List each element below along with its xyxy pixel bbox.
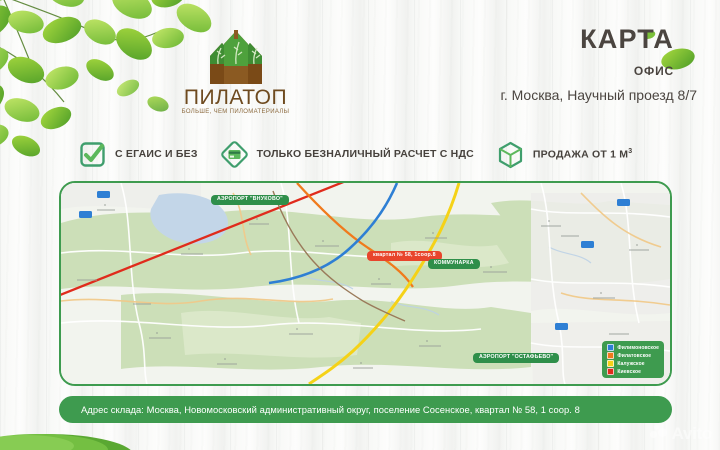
map-canvas[interactable] bbox=[61, 183, 670, 384]
office-address: г. Москва, Научный проезд 8/7 bbox=[500, 87, 697, 103]
legend-swatch bbox=[607, 352, 614, 359]
warehouse-address-bar: Адрес склада: Москва, Новомосковский адм… bbox=[59, 396, 672, 423]
legend-label: Филатовское bbox=[617, 353, 651, 359]
brand-name: ПИЛАТОП bbox=[168, 86, 303, 110]
promo-banner: ПИЛАТОП БОЛЬШЕ, ЧЕМ ПИЛОМАТЕРИАЛЫ КАРТА … bbox=[0, 0, 720, 450]
feature-label: ПРОДАЖА ОТ 1 М3 bbox=[533, 148, 632, 161]
warehouse-address: Адрес склада: Москва, Новомосковский адм… bbox=[81, 404, 580, 415]
legend-label: Киевское bbox=[617, 369, 641, 375]
legend-swatch bbox=[607, 360, 614, 367]
feature-list: С ЕГАИС И БЕЗ ТОЛЬКО БЕЗНАЛИЧНЫЙ РАСЧЕТ … bbox=[78, 136, 700, 172]
feature-item-egais: С ЕГАИС И БЕЗ bbox=[78, 140, 198, 169]
legend-item: Филимоновское bbox=[607, 344, 659, 351]
legend-swatch bbox=[607, 344, 614, 351]
legend-item: Калужское bbox=[607, 360, 659, 367]
map-pin-kommunarka[interactable]: КОММУНАРКА bbox=[428, 259, 480, 269]
check-badge-icon bbox=[78, 140, 107, 169]
cube-icon bbox=[496, 140, 525, 169]
legend-swatch bbox=[607, 368, 614, 375]
feature-item-cashless: ТОЛЬКО БЕЗНАЛИЧНЫЙ РАСЧЕТ С НДС bbox=[220, 140, 474, 169]
map-panel[interactable]: АЭРОПОРТ "ВНУКОВО" квартал № 58, 1соор.8… bbox=[59, 181, 672, 386]
credit-card-icon bbox=[220, 140, 249, 169]
legend-label: Калужское bbox=[617, 361, 644, 367]
brand-logo: ПИЛАТОП БОЛЬШЕ, ЧЕМ ПИЛОМАТЕРИАЛЫ bbox=[168, 30, 303, 122]
page-subtitle: ОФИС bbox=[634, 64, 674, 78]
house-trees-icon bbox=[200, 30, 272, 86]
avito-wordmark: Avito bbox=[672, 424, 712, 444]
legend-label: Филимоновское bbox=[617, 345, 659, 351]
avito-watermark: Avito bbox=[650, 424, 712, 444]
map-pin-ostafyevo[interactable]: АЭРОПОРТ "ОСТАФЬЕВО" bbox=[473, 353, 559, 363]
superscript: 3 bbox=[628, 148, 632, 155]
feature-item-volume: ПРОДАЖА ОТ 1 М3 bbox=[496, 140, 632, 169]
feature-label: ТОЛЬКО БЕЗНАЛИЧНЫЙ РАСЧЕТ С НДС bbox=[257, 148, 474, 160]
avito-dots-icon bbox=[650, 427, 669, 441]
legend-item: Филатовское bbox=[607, 352, 659, 359]
map-pin-vnukovo[interactable]: АЭРОПОРТ "ВНУКОВО" bbox=[211, 195, 289, 205]
brand-tagline: БОЛЬШЕ, ЧЕМ ПИЛОМАТЕРИАЛЫ bbox=[168, 109, 303, 115]
feature-label: С ЕГАИС И БЕЗ bbox=[115, 148, 198, 160]
map-legend: Филимоновское Филатовское Калужское Киев… bbox=[602, 341, 664, 378]
legend-item: Киевское bbox=[607, 368, 659, 375]
page-title: КАРТА bbox=[580, 24, 674, 55]
